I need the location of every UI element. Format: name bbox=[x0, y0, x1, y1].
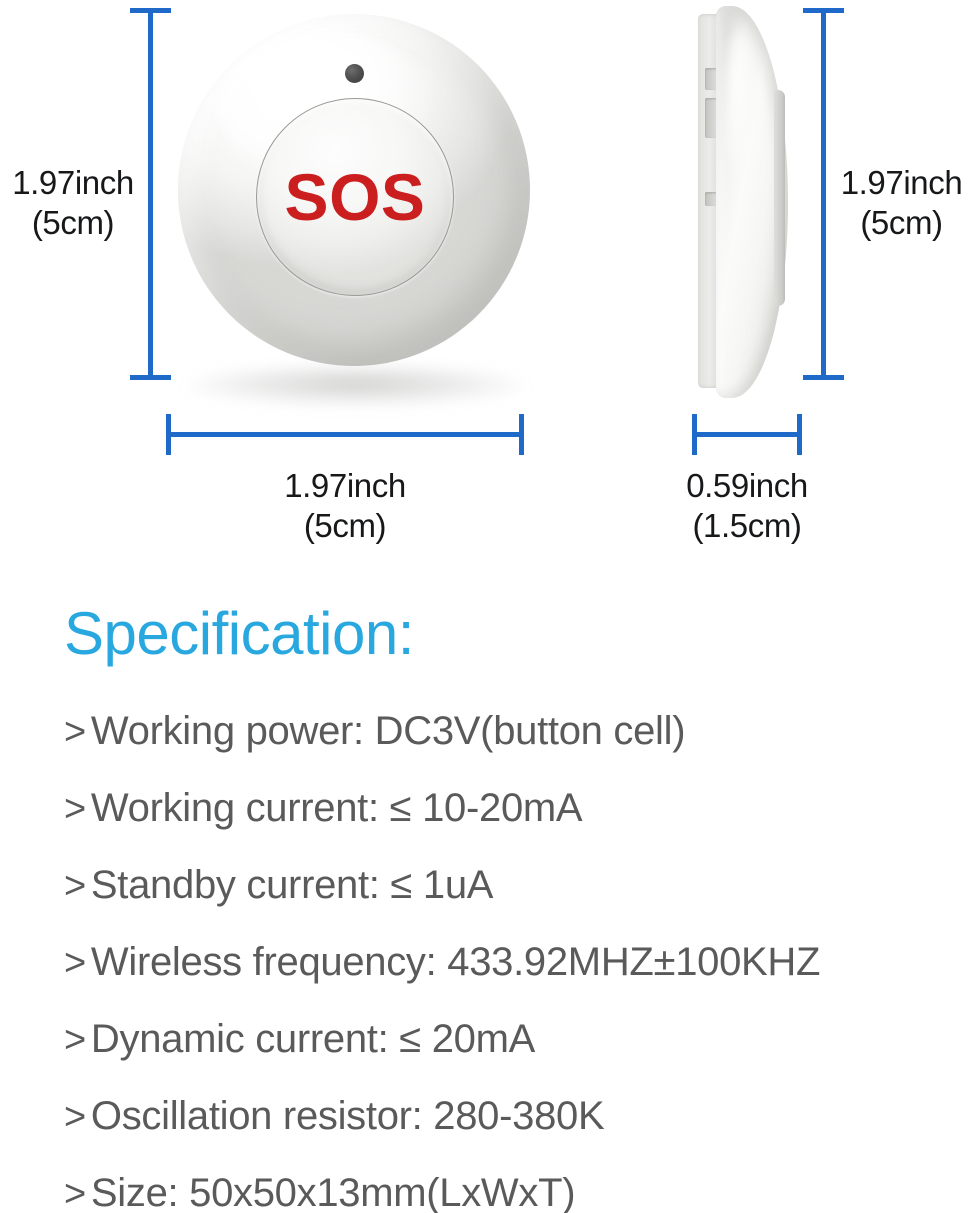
side-width-value-cm: (1.5cm) bbox=[597, 506, 897, 546]
spec-item-standby-current: > Standby current: ≤ 1uA bbox=[64, 865, 944, 942]
spec-item-oscillation-resistor: > Oscillation resistor: 280-380K bbox=[64, 1096, 944, 1173]
side-height-dimension-line bbox=[821, 8, 826, 380]
front-width-dimension-cap-left bbox=[166, 414, 171, 455]
spec-marker-icon: > bbox=[64, 867, 86, 905]
front-width-value-inch: 1.97inch bbox=[284, 467, 406, 504]
side-height-value-inch: 1.97inch bbox=[841, 164, 963, 201]
front-height-dimension-label: 1.97inch (5cm) bbox=[0, 163, 146, 244]
device-front-view: SOS bbox=[178, 14, 530, 366]
front-width-dimension-line bbox=[166, 432, 524, 437]
front-height-value-cm: (5cm) bbox=[0, 203, 146, 243]
spec-marker-icon: > bbox=[64, 1175, 86, 1213]
spec-marker-icon: > bbox=[64, 713, 86, 751]
spec-item-size: > Size: 50x50x13mm(LxWxT) bbox=[64, 1173, 944, 1213]
side-width-dimension-cap-right bbox=[797, 414, 802, 455]
spec-item-text: Working power: DC3V(button cell) bbox=[91, 711, 685, 751]
device-side-rim bbox=[774, 90, 785, 306]
spec-item-working-power: > Working power: DC3V(button cell) bbox=[64, 711, 944, 788]
front-height-dimension-cap-top bbox=[130, 8, 171, 13]
side-width-dimension-line bbox=[692, 432, 802, 437]
side-width-dimension-label: 0.59inch (1.5cm) bbox=[597, 466, 897, 547]
spec-item-dynamic-current: > Dynamic current: ≤ 20mA bbox=[64, 1019, 944, 1096]
side-width-dimension-cap-left bbox=[692, 414, 697, 455]
spec-marker-icon: > bbox=[64, 1098, 86, 1136]
spec-item-wireless-frequency: > Wireless frequency: 433.92MHZ±100KHZ bbox=[64, 942, 944, 1019]
led-indicator-icon bbox=[345, 64, 364, 83]
device-side-view bbox=[698, 6, 794, 398]
front-height-dimension-cap-bottom bbox=[130, 375, 171, 380]
specification-heading: Specification: bbox=[64, 604, 414, 664]
sos-button[interactable]: SOS bbox=[256, 98, 454, 296]
front-width-dimension-label: 1.97inch (5cm) bbox=[195, 466, 495, 547]
side-height-value-cm: (5cm) bbox=[830, 203, 973, 243]
product-specification-image: SOS 1.97inch (5cm) 1.97inch (5cm) 1.97in… bbox=[0, 0, 973, 1213]
device-front-shadow bbox=[186, 366, 526, 406]
front-height-value-inch: 1.97inch bbox=[12, 164, 134, 201]
front-height-dimension-line bbox=[148, 8, 153, 380]
spec-item-text: Wireless frequency: 433.92MHZ±100KHZ bbox=[91, 942, 820, 982]
side-width-value-inch: 0.59inch bbox=[686, 467, 808, 504]
spec-item-text: Oscillation resistor: 280-380K bbox=[91, 1096, 604, 1136]
side-height-dimension-cap-top bbox=[803, 8, 844, 13]
side-height-dimension-cap-bottom bbox=[803, 375, 844, 380]
specification-list: > Working power: DC3V(button cell) > Wor… bbox=[64, 711, 944, 1213]
spec-marker-icon: > bbox=[64, 944, 86, 982]
sos-button-label: SOS bbox=[285, 164, 426, 230]
front-width-dimension-cap-right bbox=[519, 414, 524, 455]
spec-marker-icon: > bbox=[64, 790, 86, 828]
front-width-value-cm: (5cm) bbox=[195, 506, 495, 546]
side-dome-highlight bbox=[724, 30, 754, 180]
spec-item-text: Dynamic current: ≤ 20mA bbox=[91, 1019, 535, 1059]
spec-item-working-current: > Working current: ≤ 10-20mA bbox=[64, 788, 944, 865]
spec-item-text: Size: 50x50x13mm(LxWxT) bbox=[91, 1173, 575, 1213]
spec-item-text: Working current: ≤ 10-20mA bbox=[91, 788, 582, 828]
spec-marker-icon: > bbox=[64, 1021, 86, 1059]
spec-item-text: Standby current: ≤ 1uA bbox=[91, 865, 493, 905]
side-height-dimension-label: 1.97inch (5cm) bbox=[830, 163, 973, 244]
